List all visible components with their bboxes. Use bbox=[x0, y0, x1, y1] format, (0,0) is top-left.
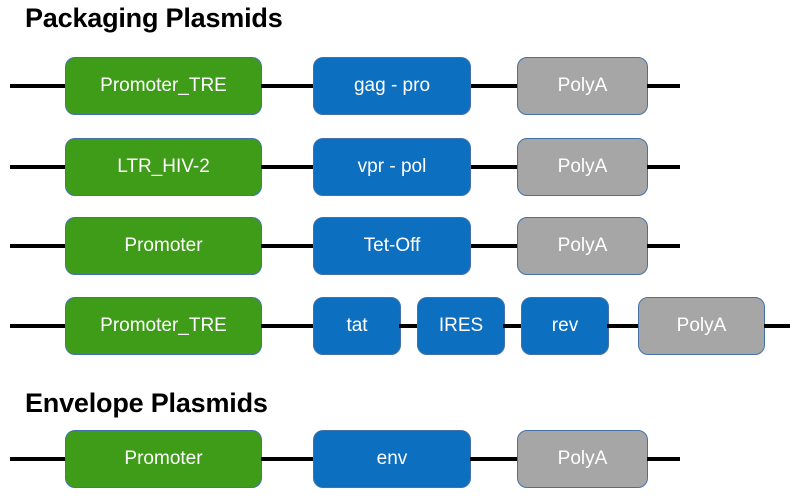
connector-line bbox=[261, 244, 314, 248]
element-gene[interactable]: Tet-Off bbox=[313, 217, 471, 275]
element-gene[interactable]: rev bbox=[521, 297, 609, 355]
connector-line bbox=[647, 457, 680, 461]
element-promoter[interactable]: Promoter_TRE bbox=[65, 297, 262, 355]
connector-line bbox=[10, 84, 66, 88]
element-polya[interactable]: PolyA bbox=[638, 297, 765, 355]
connector-line bbox=[647, 244, 680, 248]
element-polya[interactable]: PolyA bbox=[517, 57, 648, 115]
connector-line bbox=[647, 165, 680, 169]
element-promoter[interactable]: LTR_HIV-2 bbox=[65, 138, 262, 196]
connector-line bbox=[470, 244, 518, 248]
connector-line bbox=[261, 457, 314, 461]
connector-line bbox=[10, 244, 66, 248]
connector-line bbox=[10, 457, 66, 461]
connector-line bbox=[399, 324, 419, 328]
element-gene[interactable]: tat bbox=[313, 297, 401, 355]
connector-line bbox=[10, 324, 66, 328]
element-gene[interactable]: vpr - pol bbox=[313, 138, 471, 196]
element-promoter[interactable]: Promoter_TRE bbox=[65, 57, 262, 115]
section-title-packaging-plasmids: Packaging Plasmids bbox=[25, 5, 283, 32]
element-promoter[interactable]: Promoter bbox=[65, 430, 262, 488]
connector-line bbox=[470, 457, 518, 461]
element-gene[interactable]: gag - pro bbox=[313, 57, 471, 115]
element-gene[interactable]: env bbox=[313, 430, 471, 488]
connector-line bbox=[10, 165, 66, 169]
connector-line bbox=[261, 165, 314, 169]
connector-line bbox=[261, 84, 314, 88]
connector-line bbox=[764, 324, 790, 328]
connector-line bbox=[470, 84, 518, 88]
connector-line bbox=[607, 324, 641, 328]
section-title-envelope-plasmids: Envelope Plasmids bbox=[25, 390, 268, 417]
connector-line bbox=[470, 165, 518, 169]
connector-line bbox=[503, 324, 523, 328]
connector-line bbox=[647, 84, 680, 88]
element-gene[interactable]: IRES bbox=[417, 297, 505, 355]
connector-line bbox=[261, 324, 314, 328]
element-polya[interactable]: PolyA bbox=[517, 138, 648, 196]
element-promoter[interactable]: Promoter bbox=[65, 217, 262, 275]
element-polya[interactable]: PolyA bbox=[517, 217, 648, 275]
element-polya[interactable]: PolyA bbox=[517, 430, 648, 488]
